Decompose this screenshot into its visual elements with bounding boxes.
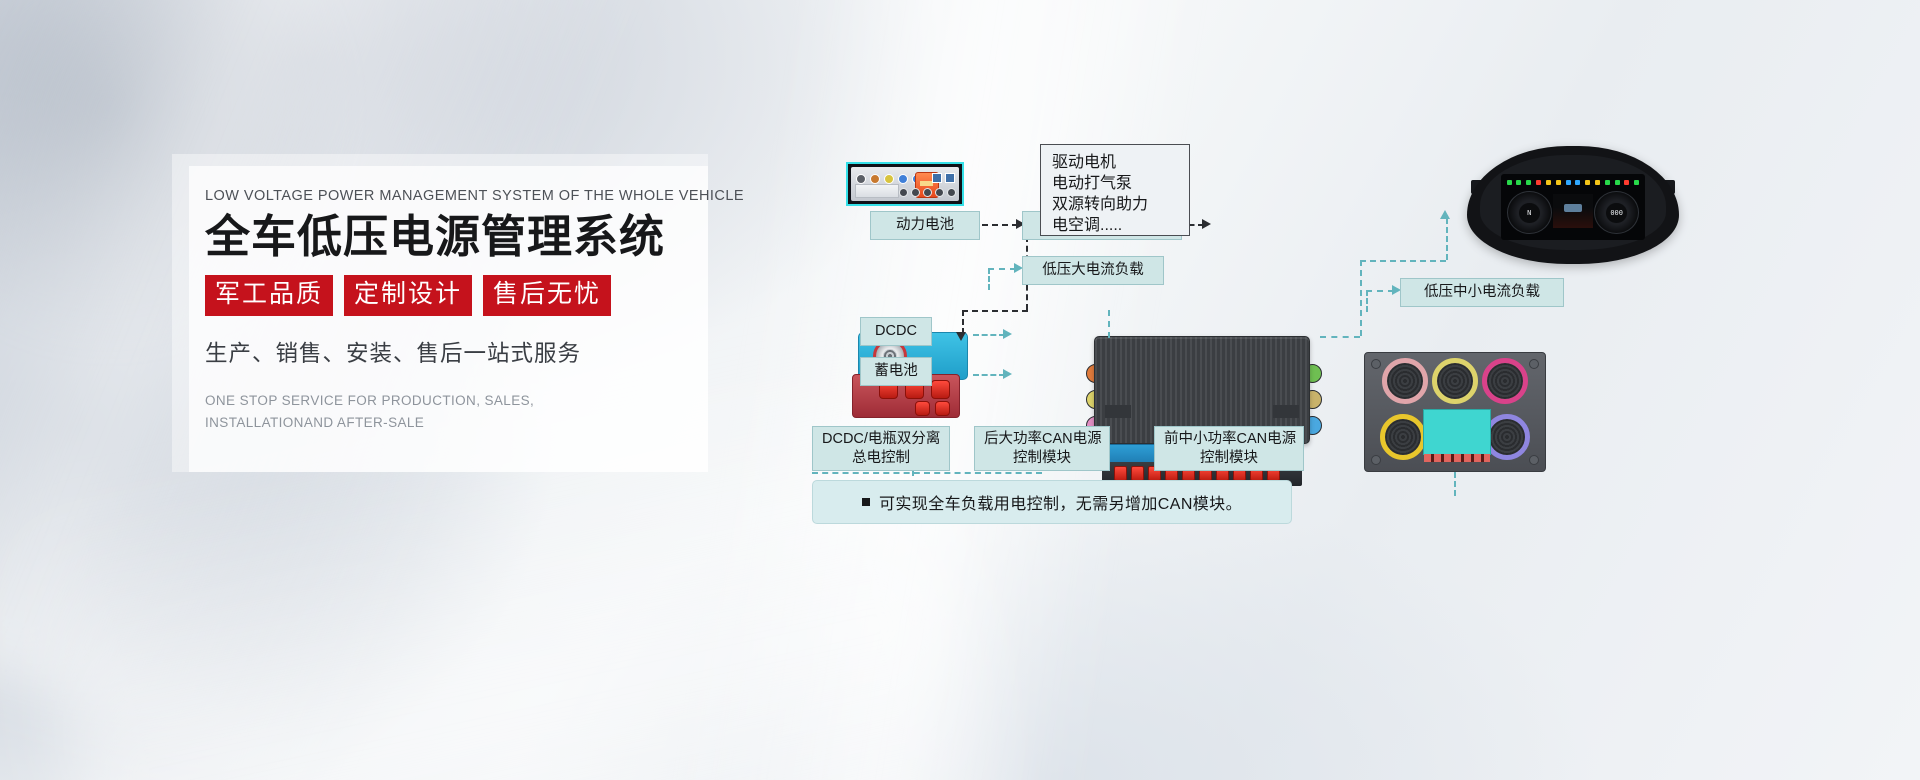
arrow-to-cluster <box>1440 210 1450 219</box>
banner-stage: LOW VOLTAGE POWER MANAGEMENT SYSTEM OF T… <box>0 0 1920 780</box>
caption-dcdc-line-2: 总电控制 <box>822 449 940 468</box>
badge-after-sales: 售后无忧 <box>483 275 611 316</box>
label-storage-battery[interactable]: 蓄电池 <box>860 357 932 386</box>
label-driven-loads-box: 驱动电机 电动打气泵 双源转向助力 电空调..... <box>1040 144 1190 236</box>
hv-bottom-ports <box>899 188 956 197</box>
link-rear-module-up <box>1108 310 1110 338</box>
link-down-to-dcdc <box>962 310 964 334</box>
cluster-speed-dial: 000 <box>1594 191 1639 234</box>
caption-rear-line-2: 控制模块 <box>984 449 1100 468</box>
hv-segment-plate <box>855 184 899 198</box>
hv-controller-product-image <box>846 162 964 206</box>
diagram-note-text: 可实现全车负载用电控制，无需另增加CAN模块。 <box>879 490 1242 514</box>
link-front-caption <box>1454 472 1456 496</box>
front-module-port-b <box>1437 363 1473 399</box>
front-module-port-d <box>1385 419 1421 455</box>
front-module-port-a <box>1387 363 1423 399</box>
arrow-dcdc-label <box>1003 329 1012 339</box>
link-cluster-up <box>1446 218 1448 260</box>
hv-connector-row <box>856 174 922 184</box>
front-module-port-c <box>1487 363 1523 399</box>
link-rear-up <box>1360 260 1362 336</box>
hero-footer-english: ONE STOP SERVICE FOR PRODUCTION, SALES, … <box>205 390 705 435</box>
front-can-module-product-image <box>1364 352 1546 472</box>
hero-subline: 生产、销售、安装、售后一站式服务 <box>205 336 705 368</box>
caption-front-line-1: 前中小功率CAN电源 <box>1164 430 1294 449</box>
caption-rear-can-module: 后大功率CAN电源 控制模块 <box>974 426 1110 471</box>
instrument-cluster-product-image: N 000 <box>1467 146 1679 264</box>
caption-dcdc-line-1: DCDC/电瓶双分离 <box>822 430 940 449</box>
link-lv-high-h <box>988 268 1016 270</box>
caption-dcdc-battery-separation: DCDC/电瓶双分离 总电控制 <box>812 426 950 471</box>
label-dcdc[interactable]: DCDC <box>860 317 932 346</box>
link-rear-right <box>1320 336 1360 338</box>
cluster-vehicle-icon <box>1564 204 1582 212</box>
hero-footer-line-2: INSTALLATIONAND AFTER-SALE <box>205 412 705 434</box>
link-lv-mid-h <box>1366 290 1394 292</box>
badge-military-quality: 军工品质 <box>205 275 333 316</box>
cluster-center-display <box>1553 194 1593 228</box>
arrow-storage-label <box>1003 369 1012 379</box>
arrow-to-dcdc <box>956 332 966 341</box>
diagram-note: 可实现全车负载用电控制，无需另增加CAN模块。 <box>812 480 1292 524</box>
hero-eyebrow: LOW VOLTAGE POWER MANAGEMENT SYSTEM OF T… <box>205 188 705 204</box>
front-module-port-e <box>1489 419 1525 455</box>
link-hv-left <box>962 310 1028 312</box>
link-caption-bracket <box>812 472 1042 474</box>
link-lv-high-v <box>988 268 990 290</box>
link-dcdc-label <box>973 334 1005 336</box>
link-battery-to-hv <box>982 224 1018 226</box>
cluster-gear-dial: N <box>1507 191 1552 234</box>
label-lv-high-current-load[interactable]: 低压大电流负载 <box>1022 256 1164 285</box>
badge-custom-design: 定制设计 <box>344 275 472 316</box>
caption-front-line-2: 控制模块 <box>1164 449 1294 468</box>
caption-rear-line-1: 后大功率CAN电源 <box>984 430 1100 449</box>
cluster-speed-value: 000 <box>1606 203 1627 223</box>
hero-badge-row: 军工品质 定制设计 售后无忧 <box>205 275 705 316</box>
cluster-screen: N 000 <box>1501 174 1645 240</box>
hero-footer-line-1: ONE STOP SERVICE FOR PRODUCTION, SALES, <box>205 390 705 412</box>
bullet-square-icon <box>862 498 870 506</box>
hero-text-block: LOW VOLTAGE POWER MANAGEMENT SYSTEM OF T… <box>205 188 705 434</box>
label-power-battery[interactable]: 动力电池 <box>870 211 980 240</box>
front-module-lcd <box>1423 409 1491 455</box>
caption-front-can-module: 前中小功率CAN电源 控制模块 <box>1154 426 1304 471</box>
label-lv-mid-small-current-load[interactable]: 低压中小电流负载 <box>1400 278 1564 307</box>
cluster-telltales <box>1507 180 1640 185</box>
hv-right-ports <box>932 173 955 183</box>
system-diagram: N 000 <box>870 140 1890 640</box>
cluster-gear-value: N <box>1519 203 1540 223</box>
arrow-hv-to-loads <box>1202 219 1211 229</box>
link-cluster-h <box>1360 260 1446 262</box>
page-title: 全车低压电源管理系统 <box>205 213 705 262</box>
link-storage-label <box>973 374 1005 376</box>
link-lv-mid-v <box>1366 290 1368 312</box>
